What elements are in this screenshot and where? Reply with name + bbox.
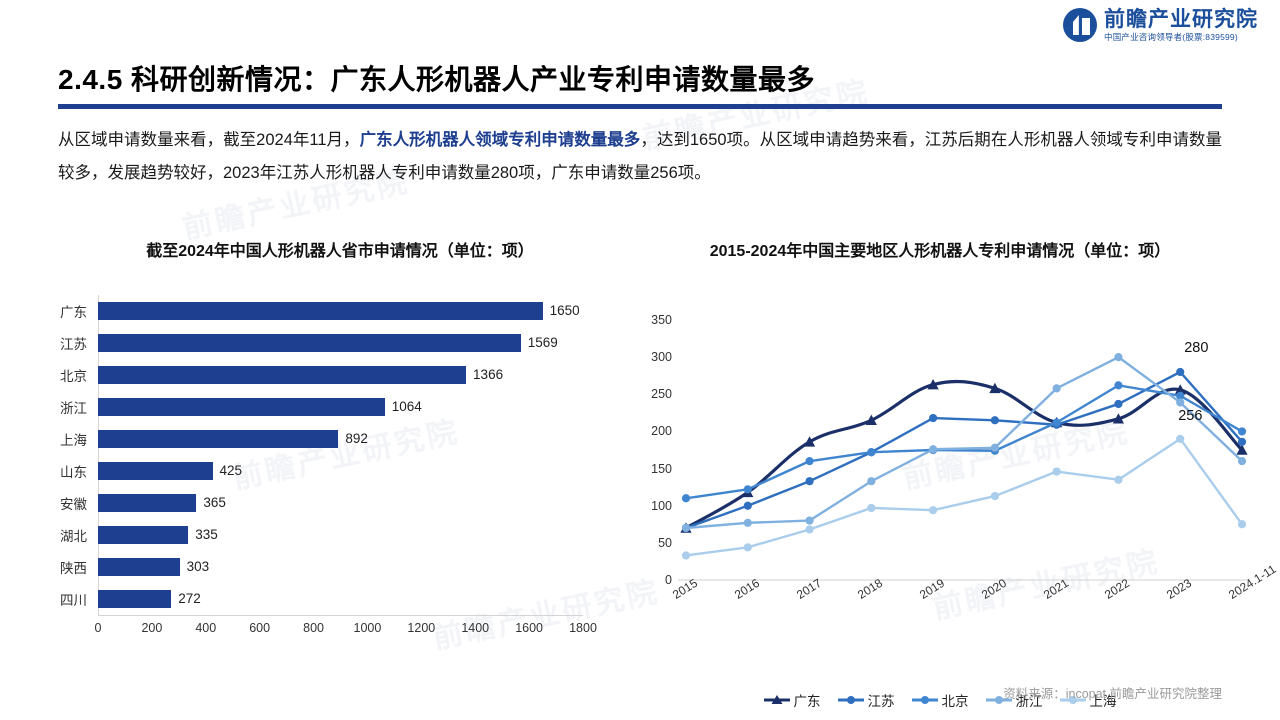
- brand-logo: 前瞻产业研究院 中国产业咨询领导者(股票:839599): [1063, 8, 1258, 42]
- line-marker: [1053, 467, 1061, 475]
- bar-row: 上海892: [40, 423, 640, 455]
- bar-fill: [98, 526, 188, 544]
- line-marker: [1053, 384, 1061, 392]
- bar-value-label: 425: [220, 462, 243, 480]
- line-marker: [682, 494, 690, 502]
- body-part-1: 从区域申请数量来看，截至2024年11月，: [58, 131, 360, 149]
- line-marker: [744, 543, 752, 551]
- line-marker: [1114, 400, 1122, 408]
- bar-x-axis-line: [98, 615, 583, 616]
- body-paragraph: 从区域申请数量来看，截至2024年11月，广东人形机器人领域专利申请数量最多，达…: [58, 124, 1222, 190]
- line-marker: [1238, 520, 1246, 528]
- bar-category-label: 广东: [40, 301, 98, 321]
- line-marker: [1176, 398, 1184, 406]
- legend-marker-icon: [838, 693, 864, 707]
- bar-x-tick-label: 1400: [461, 621, 489, 635]
- line-marker: [929, 445, 937, 453]
- bar-category-label: 江苏: [40, 333, 98, 353]
- bar-fill: [98, 398, 385, 416]
- bar-fill: [98, 558, 180, 576]
- bar-track: 335: [98, 519, 640, 551]
- bar-track: 425: [98, 455, 640, 487]
- line-chart-panel: 2015-2024年中国主要地区人形机器人专利申请情况（单位：项） 050100…: [630, 240, 1250, 680]
- bar-track: 892: [98, 423, 640, 455]
- bar-value-label: 1650: [550, 302, 580, 320]
- bar-fill: [98, 366, 466, 384]
- bar-row: 江苏1569: [40, 327, 640, 359]
- bar-category-label: 山东: [40, 461, 98, 481]
- line-marker: [1238, 427, 1246, 435]
- bar-track: 1569: [98, 327, 640, 359]
- bar-category-label: 北京: [40, 365, 98, 385]
- bar-value-label: 1366: [473, 366, 503, 384]
- line-path: [686, 385, 1242, 498]
- line-marker: [805, 525, 813, 533]
- bar-value-label: 1569: [528, 334, 558, 352]
- line-marker: [805, 516, 813, 524]
- line-marker: [805, 457, 813, 465]
- bar-row: 广东1650: [40, 295, 640, 327]
- bar-fill: [98, 302, 543, 320]
- line-marker: [1238, 438, 1246, 446]
- legend-item-江苏[interactable]: 江苏: [838, 690, 895, 710]
- line-marker: [1053, 418, 1061, 426]
- line-series-北京: [682, 381, 1246, 502]
- line-marker: [744, 519, 752, 527]
- bar-category-label: 浙江: [40, 397, 98, 417]
- line-marker: [682, 551, 690, 559]
- line-marker: [867, 477, 875, 485]
- bar-track: 1366: [98, 359, 640, 391]
- logo-subtitle: 中国产业咨询领导者(股票:839599): [1104, 33, 1258, 42]
- legend-label: 江苏: [868, 690, 895, 710]
- bar-value-label: 892: [345, 430, 368, 448]
- bar-track: 1064: [98, 391, 640, 423]
- legend-label: 北京: [942, 690, 969, 710]
- line-marker: [929, 414, 937, 422]
- line-series-广东: [680, 379, 1247, 533]
- line-marker: [929, 506, 937, 514]
- line-marker: [744, 485, 752, 493]
- source-note: 资料来源：incopat 前瞻产业研究院整理: [1003, 683, 1222, 702]
- line-marker: [682, 524, 690, 532]
- legend-marker-icon: [764, 693, 790, 707]
- bar-x-axis-ticks: 020040060080010001200140016001800: [98, 621, 583, 641]
- bar-track: 272: [98, 583, 640, 615]
- bar-category-label: 安徽: [40, 493, 98, 513]
- bar-row: 陕西303: [40, 551, 640, 583]
- data-point-label: 256: [1178, 408, 1202, 424]
- bar-x-tick-label: 800: [303, 621, 324, 635]
- bar-row: 浙江1064: [40, 391, 640, 423]
- bar-value-label: 365: [203, 494, 226, 512]
- line-marker: [1176, 368, 1184, 376]
- bar-chart-panel: 截至2024年中国人形机器人省市申请情况（单位：项） 广东1650江苏1569北…: [40, 240, 640, 660]
- bar-x-tick-label: 0: [95, 621, 102, 635]
- line-path: [686, 381, 1242, 528]
- page-title: 2.4.5 科研创新情况：广东人形机器人产业专利申请数量最多: [58, 58, 815, 98]
- bar-chart-plot: 广东1650江苏1569北京1366浙江1064上海892山东425安徽365湖…: [40, 295, 640, 655]
- line-marker: [867, 448, 875, 456]
- bar-category-label: 上海: [40, 429, 98, 449]
- bar-fill: [98, 334, 521, 352]
- line-chart-plot: 050100150200250300350 201520162017201820…: [630, 308, 1250, 638]
- logo-text: 前瞻产业研究院 中国产业咨询领导者(股票:839599): [1104, 9, 1258, 42]
- bar-row: 北京1366: [40, 359, 640, 391]
- bar-fill: [98, 590, 171, 608]
- bar-fill: [98, 430, 338, 448]
- line-marker: [1238, 457, 1246, 465]
- bar-x-tick-label: 1800: [569, 621, 597, 635]
- logo-mark-icon: [1063, 8, 1097, 42]
- bar-chart-title: 截至2024年中国人形机器人省市申请情况（单位：项）: [40, 240, 640, 263]
- bar-track: 1650: [98, 295, 640, 327]
- data-point-label: 280: [1184, 340, 1208, 356]
- line-marker: [991, 416, 999, 424]
- bar-fill: [98, 494, 196, 512]
- body-highlight: 广东人形机器人领域专利申请数量最多: [360, 131, 641, 149]
- line-chart-title: 2015-2024年中国主要地区人形机器人专利申请情况（单位：项）: [630, 240, 1250, 263]
- bar-fill: [98, 462, 213, 480]
- bar-x-tick-label: 600: [249, 621, 270, 635]
- line-marker: [991, 444, 999, 452]
- bar-x-tick-label: 1200: [407, 621, 435, 635]
- bar-category-label: 湖北: [40, 525, 98, 545]
- line-marker: [744, 502, 752, 510]
- bar-series: 广东1650江苏1569北京1366浙江1064上海892山东425安徽365湖…: [40, 295, 640, 615]
- bar-track: 365: [98, 487, 640, 519]
- bar-value-label: 1064: [392, 398, 422, 416]
- bar-value-label: 272: [178, 590, 201, 608]
- line-marker: [1114, 381, 1122, 389]
- bar-row: 安徽365: [40, 487, 640, 519]
- bar-x-tick-label: 200: [141, 621, 162, 635]
- bar-track: 303: [98, 551, 640, 583]
- slide-page: 前瞻产业研究院 前瞻产业研究院 前瞻产业研究院 前瞻产业研究院 前瞻产业研究院 …: [0, 0, 1280, 720]
- bar-row: 湖北335: [40, 519, 640, 551]
- title-divider: [58, 104, 1222, 109]
- legend-marker-icon: [912, 693, 938, 707]
- legend-label: 广东: [794, 690, 821, 710]
- bar-row: 山东425: [40, 455, 640, 487]
- bar-row: 四川272: [40, 583, 640, 615]
- bar-value-label: 335: [195, 526, 218, 544]
- line-marker: [1176, 435, 1184, 443]
- bar-x-tick-label: 1600: [515, 621, 543, 635]
- bar-category-label: 四川: [40, 589, 98, 609]
- bar-x-tick-label: 400: [195, 621, 216, 635]
- bar-x-tick-label: 1000: [354, 621, 382, 635]
- line-marker: [991, 492, 999, 500]
- bar-value-label: 303: [187, 558, 210, 576]
- line-series-浙江: [682, 353, 1246, 532]
- legend-item-广东[interactable]: 广东: [764, 690, 821, 710]
- line-marker: [1114, 353, 1122, 361]
- legend-item-北京[interactable]: 北京: [912, 690, 969, 710]
- logo-title: 前瞻产业研究院: [1104, 9, 1258, 30]
- bar-category-label: 陕西: [40, 557, 98, 577]
- line-marker: [1114, 476, 1122, 484]
- line-marker: [867, 504, 875, 512]
- line-marker: [805, 477, 813, 485]
